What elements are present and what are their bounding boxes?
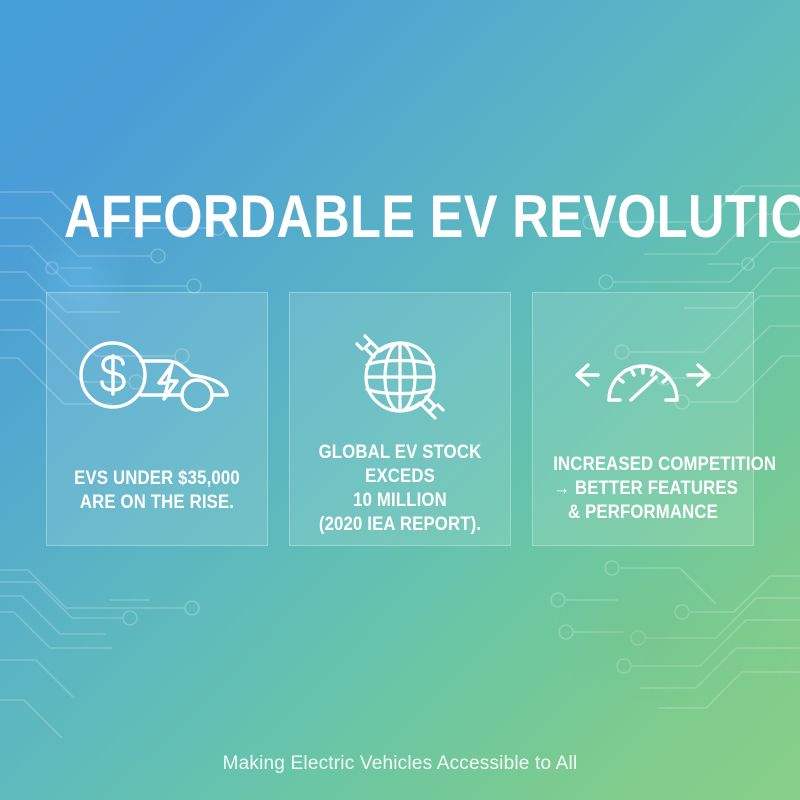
feature-card-competition-text: INCREASED COMPETITION → BETTER FEATURES … — [553, 453, 733, 525]
feature-card-affordability: EVS UNDER $35,000 ARE ON THE RISE. — [46, 292, 268, 546]
globe-plug-icon — [344, 327, 456, 423]
infographic-poster: AFFORDABLE EV REVOLUTION — [0, 0, 800, 800]
footer-tagline: Making Electric Vehicles Accessible to A… — [0, 753, 800, 775]
speedometer-arrows-icon — [568, 327, 718, 423]
feature-card-competition: INCREASED COMPETITION → BETTER FEATURES … — [532, 292, 754, 546]
background-glow-right-b — [680, 640, 750, 685]
feature-card-global-stock-text: GLOBAL EV STOCK EXCEDS 10 MILLION (2020 … — [310, 441, 490, 537]
feature-card-affordability-text: EVS UNDER $35,000 ARE ON THE RISE. — [67, 467, 247, 515]
background-glow-right-a — [595, 600, 685, 660]
page-title: AFFORDABLE EV REVOLUTION — [64, 186, 736, 248]
feature-card-row: EVS UNDER $35,000 ARE ON THE RISE. — [46, 292, 754, 546]
feature-card-global-stock: GLOBAL EV STOCK EXCEDS 10 MILLION (2020 … — [289, 292, 511, 546]
dollar-ev-car-icon — [73, 327, 241, 423]
